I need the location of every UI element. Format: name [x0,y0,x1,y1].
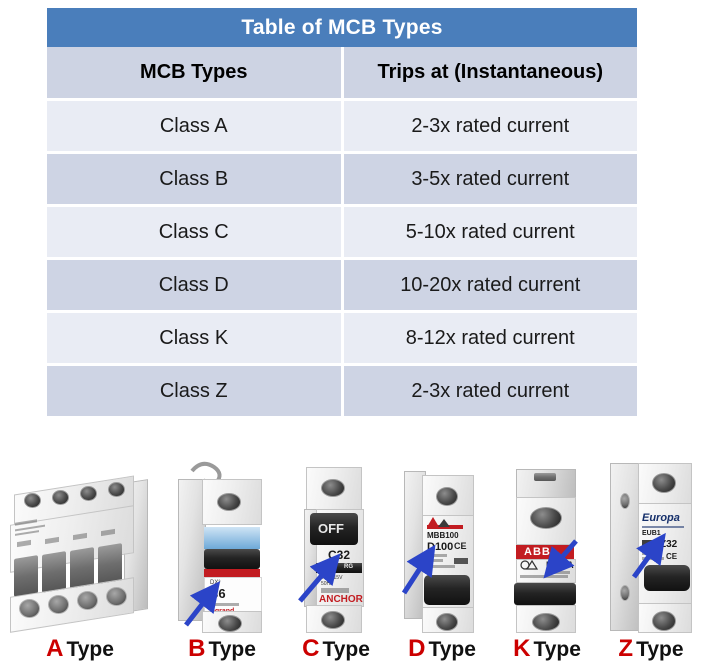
warning-symbol-icon [520,560,540,574]
cell-mcb-type: Class K [47,312,342,365]
device-a-letter: A [46,635,63,662]
toggle-lever[interactable] [14,555,38,597]
device-d-label: DType [394,637,490,661]
device-b-type: DX³ B6 legrand BType [172,453,272,661]
terminal-screw [52,490,69,505]
pointer-arrow-icon [294,553,350,609]
toggle-lever[interactable] [42,551,66,593]
toggle-off-text: OFF [318,522,344,535]
toggle-lever[interactable] [514,583,576,605]
device-a-word: Type [66,638,113,661]
table-row: Class A 2-3x rated current [47,100,637,153]
device-z-word: Type [636,638,683,661]
terminal-screw [436,613,458,631]
pointer-arrow-icon [630,533,682,585]
terminal-screw [77,591,98,610]
terminal-screw [106,587,127,606]
device-d-letter: D [408,635,425,662]
device-k-illustration: ABB K 10 A [500,453,594,631]
device-c-illustration: OFF C32 RG 240/415V 50Hz ANCHOR [288,453,384,631]
toggle-lever[interactable] [204,549,260,569]
terminal-screw [217,493,241,511]
terminal-screw [80,486,97,501]
terminal-screw [532,613,560,631]
terminal-screw [652,611,676,631]
table-row: Class Z 2-3x rated current [47,365,637,417]
terminal-screw [652,473,676,493]
cell-trip-value: 2-3x rated current [342,365,637,417]
top-slot [534,473,556,481]
model-text: MBB100 [427,532,459,540]
cell-mcb-type: Class B [47,153,342,206]
pointer-arrow-icon [182,573,242,633]
pointer-arrow-icon [542,537,590,583]
device-b-letter: B [188,635,205,662]
device-k-label: KType [500,637,594,661]
device-k-type: ABB K 10 A KType [500,453,594,661]
device-d-illustration: MBB100 D100 CE [394,453,490,631]
device-b-label: BType [172,637,272,661]
spec-window [454,558,468,564]
pointer-arrow-icon [398,545,450,601]
cell-trip-value: 10-20x rated current [342,259,637,312]
brand-underline [642,526,684,528]
device-k-word: Type [533,638,580,661]
table-row: Class B 3-5x rated current [47,153,637,206]
device-a-illustration [4,453,156,631]
table-title: Table of MCB Types [47,8,637,47]
table-header-row: MCB Types Trips at (Instantaneous) [47,47,637,100]
terminal-screw [530,507,562,529]
brand-logo-icon [427,517,451,529]
device-z-illustration: Europa EUB1 Z32 CE [602,453,700,631]
cell-trip-value: 2-3x rated current [342,100,637,153]
terminal-screw [321,479,345,497]
cell-trip-value: 8-12x rated current [342,312,637,365]
cell-mcb-type: Class A [47,100,342,153]
indicator-band [204,527,260,549]
terminal-screw [48,595,69,614]
cell-trip-value: 5-10x rated current [342,206,637,259]
device-z-label: ZType [602,637,700,661]
table-row: Class D 10-20x rated current [47,259,637,312]
device-c-type: OFF C32 RG 240/415V 50Hz ANCHOR CT [288,453,384,661]
toggle-lever[interactable] [70,547,94,589]
terminal-screw [321,611,345,629]
side-vent [620,493,630,509]
side-vent [620,585,630,601]
device-d-word: Type [428,638,475,661]
device-k-letter: K [513,635,530,662]
cell-mcb-type: Class Z [47,365,342,417]
table-title-row: Table of MCB Types [47,8,637,47]
cell-mcb-type: Class C [47,206,342,259]
cell-mcb-type: Class D [47,259,342,312]
terminal-screw [436,487,458,506]
terminal-screw [19,599,40,618]
device-c-letter: C [302,635,319,662]
device-b-illustration: DX³ B6 legrand [172,453,272,631]
cell-trip-value: 3-5x rated current [342,153,637,206]
table-row: Class C 5-10x rated current [47,206,637,259]
device-z-type: Europa EUB1 Z32 CE ZType [602,453,700,661]
device-a-type: AType [4,453,156,661]
terminal-screw [108,482,125,497]
column-header-trips-at: Trips at (Instantaneous) [342,47,637,100]
table-row: Class K 8-12x rated current [47,312,637,365]
device-z-letter: Z [618,635,633,662]
device-a-label: AType [4,637,156,661]
mcb-types-table: Table of MCB Types MCB Types Trips at (I… [47,8,637,416]
brand-text: Europa [642,513,680,524]
column-header-mcb-types: MCB Types [47,47,342,100]
ce-mark-icon: CE [454,542,467,551]
device-d-type: MBB100 D100 CE DType [394,453,490,661]
device-c-label: CType [288,637,384,661]
mcb-device-gallery: AType DX³ B6 legrand [0,412,706,661]
terminal-screw [24,493,41,508]
device-c-word: Type [322,638,369,661]
device-b-word: Type [208,638,255,661]
